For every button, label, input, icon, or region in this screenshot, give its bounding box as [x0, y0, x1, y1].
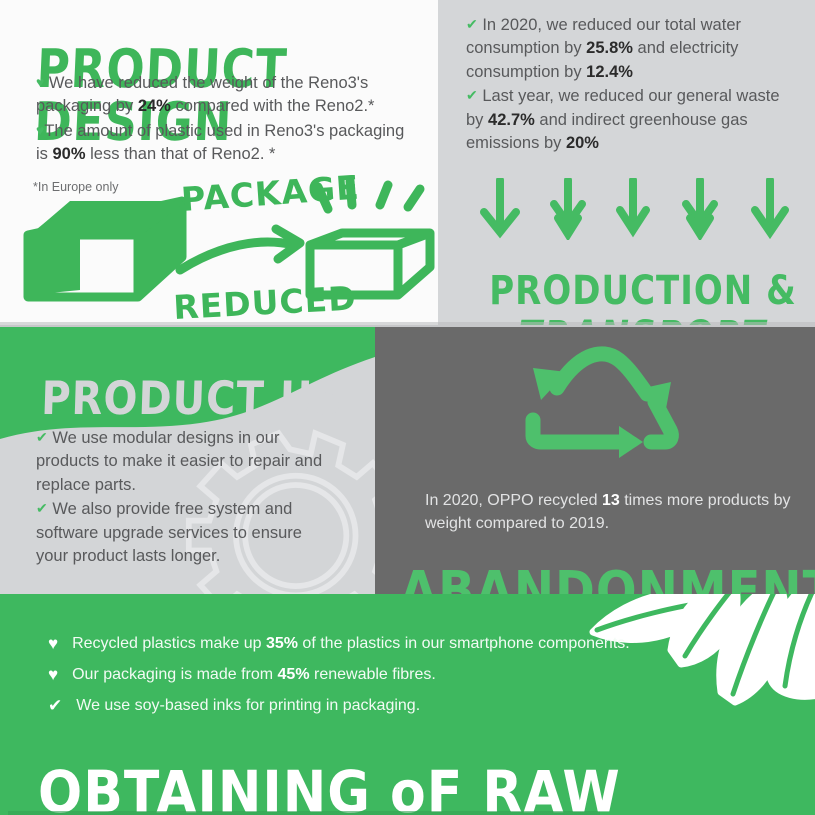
check-icon: ♥ — [48, 666, 58, 683]
check-icon: ♥ — [36, 75, 44, 89]
bottom-hairline — [0, 811, 815, 815]
recycle-icon — [515, 342, 695, 472]
section-product-design: PRODUCT DESIGN ♥ We have reduced the wei… — [0, 0, 438, 325]
reduction-arrow-icon — [180, 229, 300, 270]
product-use-bullets: ✔ We use modular designs in our products… — [36, 427, 336, 570]
bullet-item: ♥ We have reduced the weight of the Reno… — [36, 72, 406, 119]
check-icon: ✔ — [466, 17, 478, 31]
bullet-item: ✔ Last year, we reduced our general wast… — [466, 85, 796, 155]
reduced-label: REDUCED — [172, 278, 357, 325]
down-arrows-group — [478, 178, 808, 240]
production-transport-title: PRODUCTION & TRANSPORT — [473, 271, 813, 325]
bullet-item: ♥The amount of plastic used in Reno3's p… — [36, 120, 406, 167]
down-arrow-icon — [484, 180, 516, 232]
down-arrow-icon — [686, 180, 714, 234]
section-abandonment: In 2020, OPPO recycled 13 times more pro… — [375, 327, 815, 594]
section-raw-materials: ♥ Recycled plastics make up 35% of the p… — [0, 594, 815, 815]
product-design-bullets: ♥ We have reduced the weight of the Reno… — [36, 72, 406, 168]
check-icon: ♥ — [36, 123, 44, 137]
check-icon: ✔ — [36, 501, 48, 515]
bullet-item: ✔ We also provide free system and softwa… — [36, 498, 336, 568]
check-icon: ♥ — [48, 635, 58, 652]
raw-materials-bullets: ♥ Recycled plastics make up 35% of the p… — [48, 634, 748, 727]
check-icon: ✔ — [48, 697, 62, 714]
package-reduced-illustration: PACKAGE REDUCED — [10, 175, 438, 325]
check-icon: ✔ — [466, 88, 478, 102]
package-label: PACKAGE — [180, 175, 361, 219]
infographic-page: PRODUCT DESIGN ♥ We have reduced the wei… — [0, 0, 815, 815]
abandonment-statement: In 2020, OPPO recycled 13 times more pro… — [425, 489, 795, 535]
bullet-item: ♥ Our packaging is made from 45% renewab… — [48, 665, 748, 685]
down-arrow-icon — [554, 180, 582, 234]
product-use-title: PRODUCT USE — [41, 376, 372, 422]
abandonment-title: ABANDONMENT — [400, 564, 815, 594]
bullet-item: ✔ We use soy-based inks for printing in … — [48, 696, 748, 716]
bullet-item: ✔ We use modular designs in our products… — [36, 427, 336, 497]
large-package-box — [28, 201, 188, 297]
bullet-item: ♥ Recycled plastics make up 35% of the p… — [48, 634, 748, 654]
down-arrow-icon — [620, 180, 646, 230]
check-icon: ✔ — [36, 430, 48, 444]
section-product-use: PRODUCT USE ✔ We use modular designs in … — [0, 327, 375, 594]
title-line-1: PRODUCTION & — [489, 268, 796, 315]
down-arrow-icon — [755, 180, 785, 232]
raw-materials-title: OBTAINING oF RAW MATERIALS — [38, 764, 815, 815]
bullet-item: ✔ In 2020, we reduced our total water co… — [466, 14, 796, 84]
section-production-transport: ✔ In 2020, we reduced our total water co… — [438, 0, 815, 325]
production-bullets: ✔ In 2020, we reduced our total water co… — [466, 14, 796, 157]
